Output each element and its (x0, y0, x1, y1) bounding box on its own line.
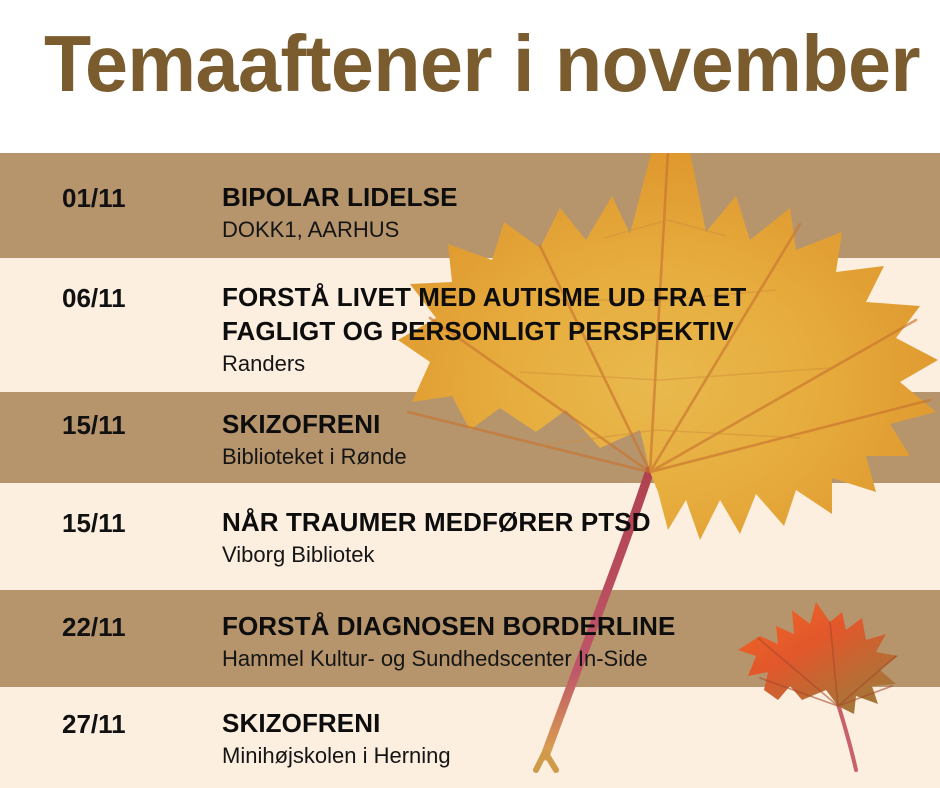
row-date: 06/11 (62, 283, 126, 314)
schedule-row[interactable]: 27/11 SKIZOFRENI Minihøjskolen i Herning (0, 687, 940, 788)
row-title: SKIZOFRENI (222, 706, 922, 740)
row-body: SKIZOFRENI Minihøjskolen i Herning (222, 706, 922, 771)
row-body: FORSTÅ LIVET MED AUTISME UD FRA ET FAGLI… (222, 280, 922, 379)
schedule-row[interactable]: 15/11 SKIZOFRENI Biblioteket i Rønde (0, 392, 940, 483)
row-date: 22/11 (62, 612, 126, 643)
row-date: 01/11 (62, 183, 126, 214)
poster-header: Temaaftener i november (0, 0, 940, 153)
row-venue: Randers (222, 349, 922, 379)
row-body: BIPOLAR LIDELSE DOKK1, AARHUS (222, 180, 922, 245)
poster-canvas: 01/11 BIPOLAR LIDELSE DOKK1, AARHUS 06/1… (0, 0, 940, 788)
schedule-row[interactable]: 15/11 NÅR TRAUMER MEDFØRER PTSD Viborg B… (0, 483, 940, 590)
schedule-row[interactable]: 06/11 FORSTÅ LIVET MED AUTISME UD FRA ET… (0, 258, 940, 392)
row-venue: Hammel Kultur- og Sundhedscenter In-Side (222, 644, 922, 674)
row-title: NÅR TRAUMER MEDFØRER PTSD (222, 505, 922, 539)
schedule-row[interactable]: 01/11 BIPOLAR LIDELSE DOKK1, AARHUS (0, 153, 940, 258)
row-title: FORSTÅ DIAGNOSEN BORDERLINE (222, 609, 922, 643)
row-venue: Viborg Bibliotek (222, 540, 922, 570)
row-venue: DOKK1, AARHUS (222, 215, 922, 245)
row-title: BIPOLAR LIDELSE (222, 180, 922, 214)
schedule-row[interactable]: 22/11 FORSTÅ DIAGNOSEN BORDERLINE Hammel… (0, 590, 940, 687)
row-date: 15/11 (62, 410, 126, 441)
row-body: SKIZOFRENI Biblioteket i Rønde (222, 407, 922, 472)
row-date: 27/11 (62, 709, 126, 740)
row-title: FORSTÅ LIVET MED AUTISME UD FRA ET FAGLI… (222, 280, 922, 348)
row-body: FORSTÅ DIAGNOSEN BORDERLINE Hammel Kultu… (222, 609, 922, 674)
page-title: Temaaftener i november (44, 16, 920, 112)
row-body: NÅR TRAUMER MEDFØRER PTSD Viborg Bibliot… (222, 505, 922, 570)
row-venue: Minihøjskolen i Herning (222, 741, 922, 771)
row-venue: Biblioteket i Rønde (222, 442, 922, 472)
row-title: SKIZOFRENI (222, 407, 922, 441)
row-date: 15/11 (62, 508, 126, 539)
